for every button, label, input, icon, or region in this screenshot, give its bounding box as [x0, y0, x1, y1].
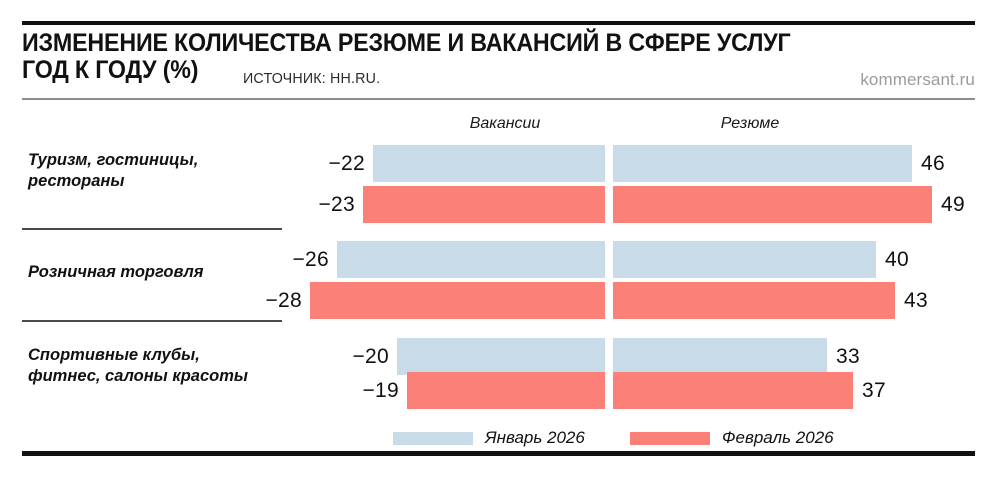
bar-feb-resumes — [613, 372, 853, 409]
chart-plot-area: Туризм, гостиницы, рестораны −22 46 −23 … — [0, 0, 1000, 479]
category-label: Туризм, гостиницы, рестораны — [28, 150, 298, 192]
bar-jan-resumes — [613, 145, 912, 182]
legend-swatch-icon-january — [393, 432, 473, 445]
bottom-rule — [22, 451, 975, 456]
value-jan-vacancies: −26 — [257, 241, 329, 278]
row-separator — [22, 320, 282, 322]
value-feb-vacancies: −19 — [327, 372, 399, 409]
bar-feb-vacancies — [363, 186, 605, 223]
bar-feb-vacancies — [407, 372, 605, 409]
value-jan-vacancies: −22 — [293, 145, 365, 182]
value-jan-resumes: 33 — [836, 338, 906, 375]
value-feb-resumes: 37 — [862, 372, 932, 409]
bar-feb-resumes — [613, 186, 932, 223]
bar-jan-vacancies — [397, 338, 605, 375]
legend-label-february: Февраль 2026 — [722, 428, 834, 448]
bar-jan-vacancies — [373, 145, 605, 182]
legend-item-february: Февраль 2026 — [630, 428, 834, 448]
value-feb-resumes: 49 — [941, 186, 1000, 223]
value-jan-resumes: 46 — [921, 145, 991, 182]
legend-item-january: Январь 2026 — [393, 428, 585, 448]
bar-jan-resumes — [613, 241, 876, 278]
category-label: Спортивные клубы, фитнес, салоны красоты — [28, 345, 298, 387]
bar-feb-resumes — [613, 282, 895, 319]
bar-jan-resumes — [613, 338, 827, 375]
bar-jan-vacancies — [337, 241, 605, 278]
bar-feb-vacancies — [310, 282, 605, 319]
value-feb-vacancies: −23 — [283, 186, 355, 223]
legend-swatch-icon-february — [630, 432, 710, 445]
chart-page: ИЗМЕНЕНИЕ КОЛИЧЕСТВА РЕЗЮМЕ И ВАКАНСИЙ В… — [0, 0, 1000, 479]
value-jan-resumes: 40 — [885, 241, 955, 278]
value-feb-resumes: 43 — [904, 282, 974, 319]
row-separator — [22, 228, 282, 230]
value-jan-vacancies: −20 — [317, 338, 389, 375]
chart-legend: Январь 2026 Февраль 2026 — [0, 428, 1000, 446]
legend-label-january: Январь 2026 — [485, 428, 585, 448]
value-feb-vacancies: −28 — [230, 282, 302, 319]
